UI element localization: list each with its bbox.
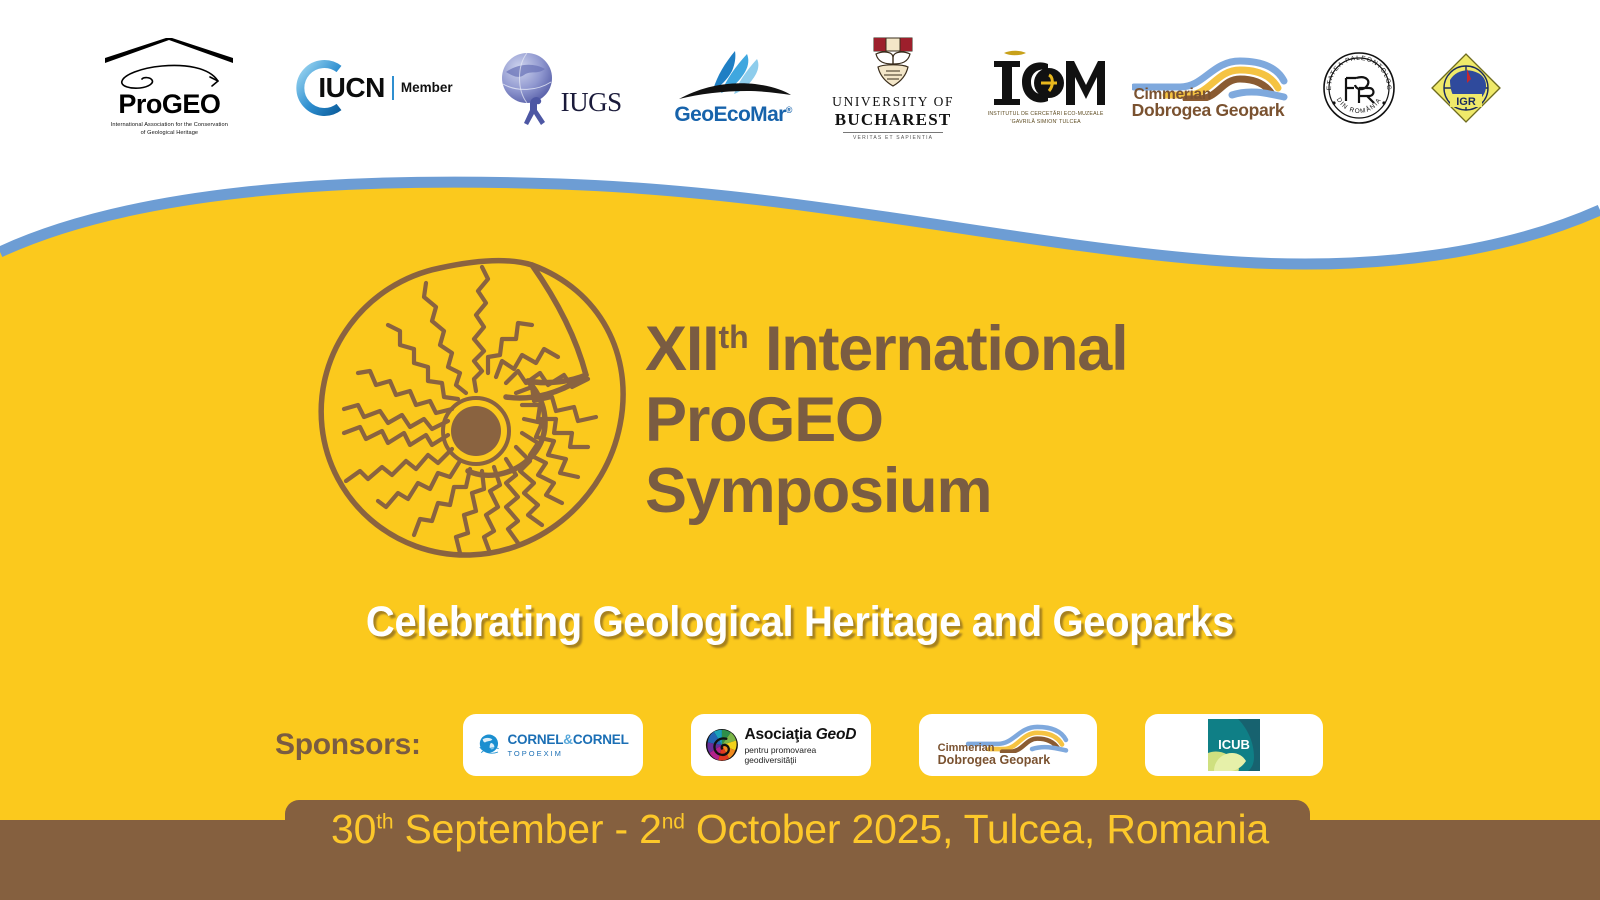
unibuc-rule: [843, 132, 943, 133]
logo-igr[interactable]: IGR: [1426, 33, 1506, 143]
unibuc-line1: UNIVERSITY OF: [831, 94, 956, 110]
title-line-3: Symposium: [645, 456, 1127, 527]
cornel-subtitle: TOPOEXIM: [507, 749, 628, 758]
logo-progeo[interactable]: ProGEO International Association for the…: [94, 33, 244, 143]
cdg-header-line2: Dobrogea Geopark: [1132, 102, 1300, 120]
igr-diamond-icon: IGR: [1426, 48, 1506, 128]
logo-icem[interactable]: INSTITUTUL DE CERCETĂRI ECO-MUZEALE 'GAV…: [976, 33, 1116, 143]
progeo-tagline-line1: International Association for the Conser…: [94, 121, 244, 129]
icem-subtitle-line1: INSTITUTUL DE CERCETĂRI ECO-MUZEALE: [976, 111, 1116, 119]
iucn-acronym: IUCN: [318, 72, 384, 104]
university-of-bucharest-crest-icon: [864, 34, 922, 92]
unibuc-motto: VERITAS ET SAPIENTIA: [831, 135, 956, 141]
icem-monogram-icon: [986, 49, 1106, 111]
sponsor-card-icub[interactable]: ICUB: [1145, 714, 1323, 776]
geoecomar-wordmark: GeoEcoMar®: [666, 103, 801, 127]
logo-cimmerian-dobrogea-geopark[interactable]: Cimmerian Dobrogea Geopark: [1132, 33, 1300, 143]
title-line-2: ProGEO: [645, 385, 1127, 456]
geod-subtitle: pentru promovarea geodiversităţii: [744, 745, 856, 765]
logo-geoecomar[interactable]: GeoEcoMar®: [666, 33, 801, 143]
event-date-location: 30th September - 2nd October 2025, Tulce…: [0, 806, 1600, 853]
progeo-spiral-icon: [114, 64, 224, 90]
subtitle: Celebrating Geological Heritage and Geop…: [56, 598, 1544, 647]
logo-societatea-paleontologilor-din-romania[interactable]: SOCIETATEA PALEONTOLOGILOR DIN ROMÂNIA: [1322, 33, 1396, 143]
unibuc-line2: BUCHAREST: [831, 110, 956, 130]
svg-text:ICUB: ICUB: [1218, 737, 1250, 752]
title-line-1: XIIth International: [645, 302, 1127, 385]
progeo-roof-icon: [103, 38, 235, 64]
ammonite-center: [451, 406, 501, 456]
iugs-acronym: IUGS: [561, 87, 622, 118]
cornel-wordmark: CORNEL&CORNEL: [507, 732, 628, 747]
progeo-wordmark: ProGEO: [94, 91, 244, 118]
iucn-divider: [392, 76, 394, 100]
sponsors-section: Sponsors: CORNEL&CORNEL TOPOEXIM: [275, 705, 1335, 785]
yellow-wave-shape: [0, 182, 1600, 900]
logo-iucn[interactable]: IUCN Member: [290, 33, 452, 143]
geod-wordmark: Asociaţia GeoD: [744, 726, 856, 744]
icub-logo-icon: ICUB: [1208, 719, 1260, 771]
sponsors-label: Sponsors:: [275, 728, 421, 762]
progeo-tagline-line2: of Geological Heritage: [94, 129, 244, 137]
conference-banner: ProGEO International Association for the…: [0, 0, 1600, 900]
logo-university-of-bucharest[interactable]: UNIVERSITY OF BUCHAREST VERITAS ET SAPIE…: [831, 33, 956, 143]
logo-iugs[interactable]: IUGS: [493, 33, 622, 143]
iucn-member-label: Member: [401, 80, 453, 95]
sponsor-card-asociatia-geod[interactable]: Asociaţia GeoD pentru promovarea geodive…: [691, 714, 871, 776]
geod-colorful-ammonite-icon: [705, 726, 739, 764]
geoecomar-sails-icon: [673, 49, 793, 105]
svg-text:IGR: IGR: [1456, 96, 1476, 108]
partner-logo-strip: ProGEO International Association for the…: [0, 0, 1600, 175]
icem-subtitle-line2: 'GAVRILĂ SIMION' TULCEA: [976, 119, 1116, 127]
ammonite-fossil-illustration: [300, 235, 645, 585]
cdg-sponsor-line2: Dobrogea Geopark: [938, 754, 1078, 767]
page-title: XIIth International ProGEO Symposium: [645, 302, 1127, 527]
sponsor-card-cimmerian-dobrogea-geopark[interactable]: Cimmerian Dobrogea Geopark: [919, 714, 1097, 776]
sponsor-card-cornel-cornel-topoexim[interactable]: CORNEL&CORNEL TOPOEXIM: [463, 714, 643, 776]
cornel-globe-icon: [477, 728, 501, 762]
spr-seal-icon: SOCIETATEA PALEONTOLOGILOR DIN ROMÂNIA: [1322, 51, 1396, 125]
